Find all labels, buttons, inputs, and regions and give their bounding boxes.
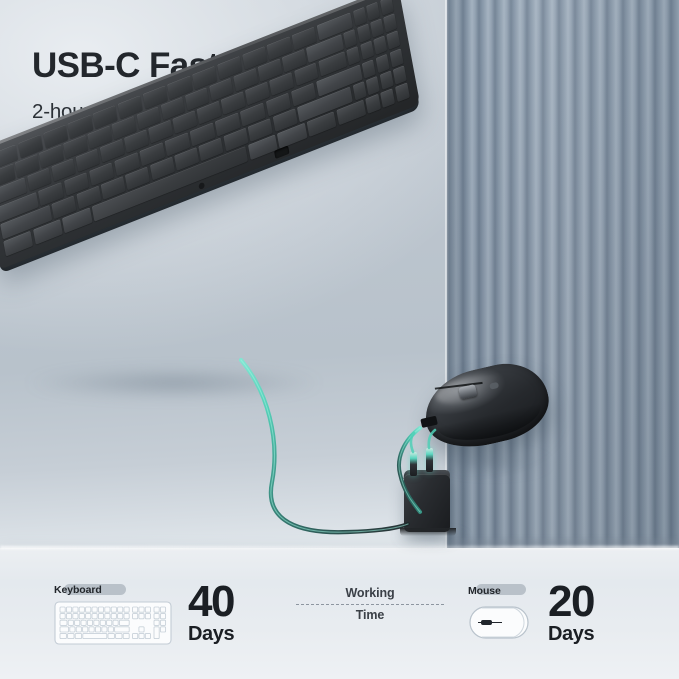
keyboard-body (0, 0, 420, 270)
keyboard-shadow (24, 368, 324, 398)
charger-foot (400, 528, 456, 536)
keyboard-product (0, 0, 457, 380)
stat-mouse: Mouse 20 Days (468, 580, 594, 644)
keyboard-indicator-led (198, 182, 205, 190)
mouse-tag: Mouse (468, 583, 501, 598)
mouse-stat-visual: Mouse (468, 581, 532, 644)
product-banner: USB-C Fast Recharge 2-hour charge powers… (0, 0, 679, 679)
keyboard-days-unit: Days (188, 624, 234, 644)
mouse-days-value: 20 (548, 580, 594, 623)
divider-label-bottom: Time (296, 606, 444, 625)
keyboard-tag-label: Keyboard (54, 584, 102, 596)
working-time-divider: Working Time (296, 584, 444, 626)
keyboard-days-value: 40 (188, 580, 234, 623)
mouse-tag-label: Mouse (468, 585, 501, 597)
keyboard-keys (0, 0, 410, 257)
stats-bar: Keyboard (0, 560, 679, 660)
mouse-stat-value-group: 20 Days (548, 580, 594, 644)
mouse-icon (468, 601, 532, 643)
charging-adapter (404, 474, 450, 532)
mouse-days-unit: Days (548, 624, 594, 644)
divider-dashed-line (296, 604, 444, 605)
mouse-product (417, 355, 556, 457)
keyboard-tag: Keyboard (54, 583, 102, 598)
keyboard-stat-visual: Keyboard (54, 580, 172, 645)
keyboard-icon (54, 601, 172, 645)
usbc-plug-mouse (426, 448, 433, 472)
divider-label-top: Working (296, 584, 444, 603)
stat-keyboard: Keyboard (54, 580, 234, 645)
keyboard-stat-value-group: 40 Days (188, 580, 234, 644)
usbc-plug-keyboard (410, 452, 417, 476)
mouse-shadow (432, 452, 552, 474)
